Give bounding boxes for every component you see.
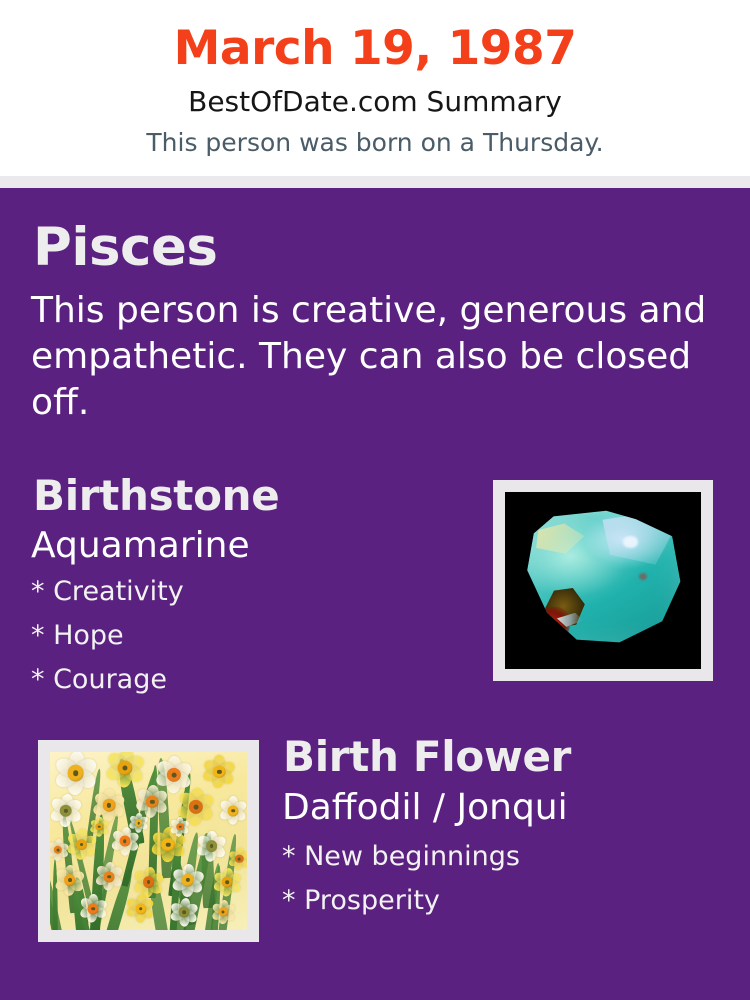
daffodil-bloom bbox=[137, 787, 167, 817]
daffodil-bloom bbox=[130, 814, 148, 832]
flower-center bbox=[210, 844, 214, 848]
birth-flower-name: Daffodil / Jonqui bbox=[282, 790, 568, 826]
birthstone-heading: Birthstone bbox=[33, 475, 279, 517]
flower-center bbox=[122, 766, 127, 771]
list-item: * Hope bbox=[31, 622, 184, 649]
flower-center bbox=[238, 857, 241, 860]
header: March 19, 1987 BestOfDate.com Summary Th… bbox=[0, 0, 750, 176]
daffodil-bloom bbox=[96, 864, 122, 890]
zodiac-description: This person is creative, generous and em… bbox=[31, 288, 711, 426]
list-item: * Prosperity bbox=[282, 887, 520, 914]
daffodil-bloom bbox=[171, 818, 189, 836]
flower-center bbox=[231, 809, 235, 813]
flower-center bbox=[68, 878, 72, 882]
daffodil-bloom bbox=[107, 752, 143, 786]
crystal-highlight bbox=[623, 536, 638, 547]
crystal-body bbox=[521, 508, 686, 650]
flower-center bbox=[139, 907, 143, 911]
daffodil-bloom bbox=[212, 901, 234, 923]
daffodil-bloom bbox=[90, 818, 108, 836]
flower-center bbox=[107, 875, 111, 879]
birth-flower-trait-list: * New beginnings * Prosperity bbox=[282, 843, 520, 931]
daffodil-bloom bbox=[157, 758, 191, 792]
flower-center bbox=[137, 822, 140, 825]
flower-center bbox=[73, 771, 79, 777]
list-item: * Creativity bbox=[31, 578, 184, 605]
flower-center bbox=[179, 825, 182, 828]
list-item: * Courage bbox=[31, 666, 184, 693]
daffodil-bloom bbox=[56, 753, 96, 793]
daffodil-bloom bbox=[214, 869, 240, 895]
birth-flower-heading: Birth Flower bbox=[283, 736, 571, 778]
daffodil-bloom bbox=[80, 896, 106, 922]
birthstone-name: Aquamarine bbox=[31, 528, 250, 564]
header-divider bbox=[0, 176, 750, 188]
list-item: * New beginnings bbox=[282, 843, 520, 870]
birthstone-trait-list: * Creativity * Hope * Courage bbox=[31, 578, 184, 710]
flower-center bbox=[193, 805, 198, 810]
birthstone-image bbox=[505, 492, 701, 669]
daffodil-bloom bbox=[198, 832, 226, 860]
daffodil-bloom bbox=[204, 757, 234, 787]
birthstone-image-frame bbox=[493, 480, 713, 681]
flower-center bbox=[123, 839, 127, 843]
daffodil-bloom bbox=[220, 798, 246, 824]
crystal-highlight bbox=[639, 573, 647, 580]
flower-center bbox=[92, 907, 96, 911]
daffodil-bloom bbox=[173, 865, 203, 895]
flower-center bbox=[182, 910, 186, 914]
daffodil-bloom bbox=[50, 840, 68, 860]
daffodil-bloom bbox=[128, 896, 154, 922]
crystal-facet bbox=[531, 522, 587, 559]
daffodil-field-icon bbox=[50, 752, 247, 930]
zodiac-sign-heading: Pisces bbox=[33, 221, 217, 274]
weekday-note: This person was born on a Thursday. bbox=[0, 129, 750, 157]
daffodil-bloom bbox=[171, 899, 197, 925]
birth-flower-image bbox=[50, 752, 247, 930]
daffodil-bloom bbox=[112, 828, 138, 854]
flower-center bbox=[147, 880, 151, 884]
flower-center bbox=[80, 843, 84, 847]
aquamarine-crystal-icon bbox=[505, 492, 701, 669]
site-summary-label: BestOfDate.com Summary bbox=[0, 87, 750, 118]
daffodil-bloom bbox=[229, 849, 247, 869]
daffodil-bloom bbox=[135, 868, 163, 896]
page-title: March 19, 1987 bbox=[0, 24, 750, 73]
flower-center bbox=[225, 880, 229, 884]
birth-flower-image-frame bbox=[38, 740, 259, 942]
summary-panel: Pisces This person is creative, generous… bbox=[0, 188, 750, 1000]
daffodil-bloom bbox=[56, 866, 84, 894]
flower-center bbox=[172, 773, 177, 778]
daffodil-bloom bbox=[51, 796, 81, 826]
crystal-inclusion bbox=[534, 607, 570, 644]
flower-center bbox=[56, 848, 59, 851]
daffodil-bloom bbox=[94, 790, 124, 820]
flower-center bbox=[98, 825, 101, 828]
birthdate-summary-card: March 19, 1987 BestOfDate.com Summary Th… bbox=[0, 0, 750, 1000]
daffodil-bloom bbox=[68, 831, 96, 859]
